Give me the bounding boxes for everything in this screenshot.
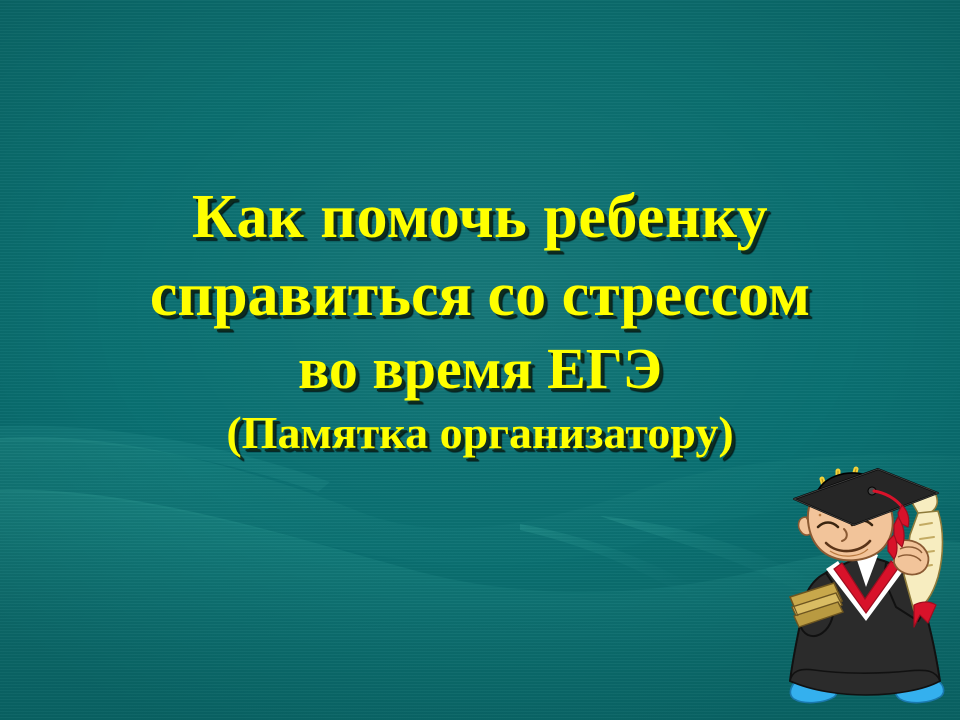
title-line-2: справиться со стрессом — [0, 264, 960, 326]
slide-title: Как помочь ребенку справиться со стрессо… — [0, 186, 960, 456]
presentation-slide: Как помочь ребенку справиться со стрессо… — [0, 0, 960, 720]
graduate-illustration — [768, 455, 960, 710]
title-subtitle-line: (Памятка организатору) — [0, 410, 960, 456]
title-line-1: Как помочь ребенку — [0, 186, 960, 248]
title-line-3: во время ЕГЭ — [0, 340, 960, 398]
